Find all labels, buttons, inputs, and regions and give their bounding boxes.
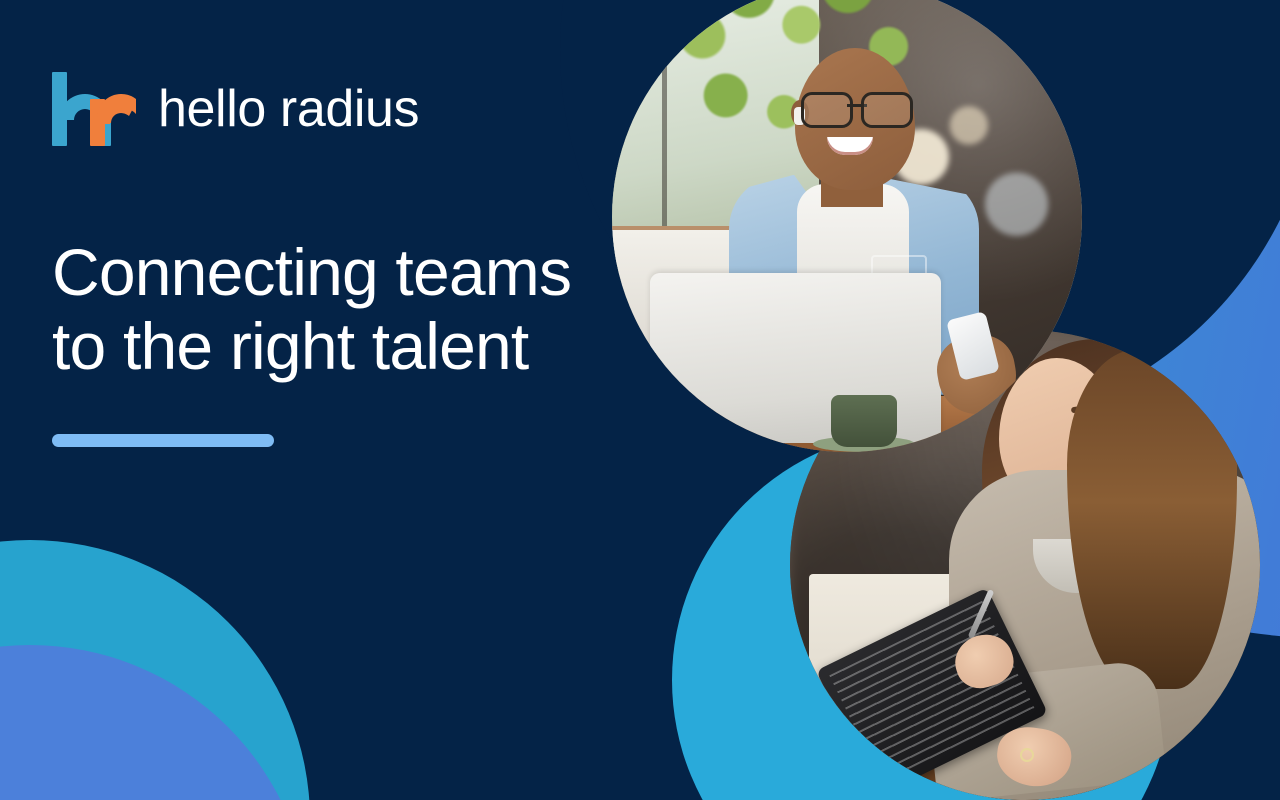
photo-eyeglasses: [801, 92, 913, 122]
page-title: Connecting teams to the right talent: [52, 236, 571, 384]
hr-monogram-icon: [52, 72, 136, 146]
photo-lens-left: [801, 92, 853, 128]
photo-man-with-laptop: [612, 0, 1082, 452]
photo-laptop: [650, 273, 941, 442]
headline-line-2: to the right talent: [52, 310, 571, 384]
photo-coffee-cup: [831, 395, 897, 447]
accent-rule: [52, 434, 274, 447]
photo-lens-right: [861, 92, 913, 128]
photo-hair-front: [1067, 349, 1237, 689]
brand-wordmark: hello radius: [158, 83, 419, 135]
brand-logo-lockup[interactable]: hello radius: [52, 72, 419, 146]
hero-banner: hello radius Connecting teams to the rig…: [0, 0, 1280, 800]
hero-content: hello radius Connecting teams to the rig…: [52, 0, 612, 800]
headline-line-1: Connecting teams: [52, 236, 571, 310]
